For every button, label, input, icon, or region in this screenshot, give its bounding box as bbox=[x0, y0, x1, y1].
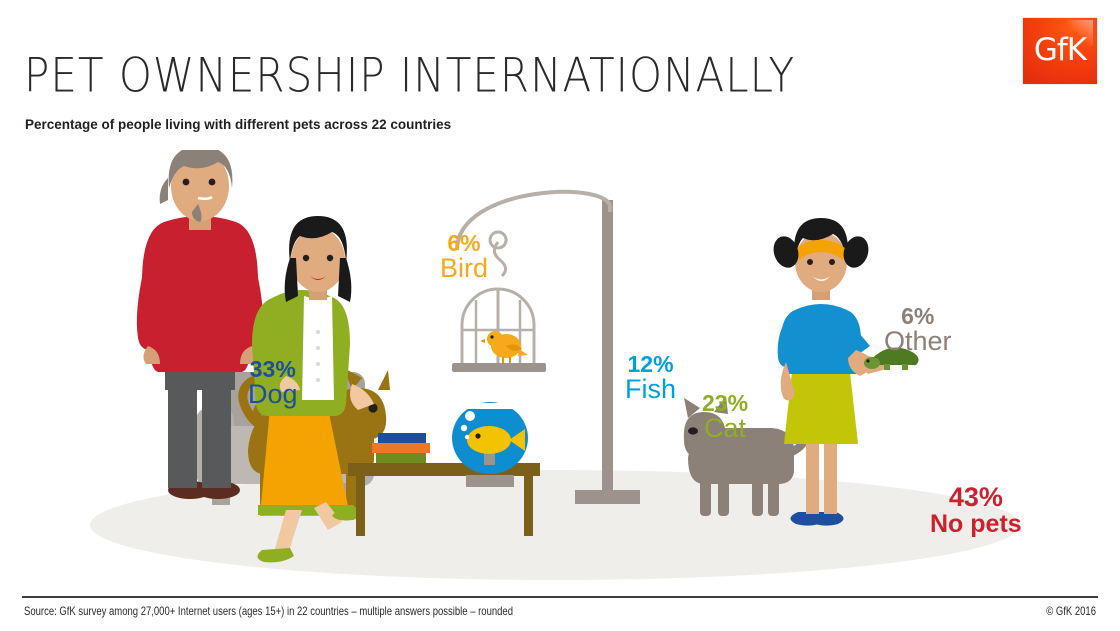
label-bird: 6% Bird bbox=[440, 232, 488, 283]
book-stack bbox=[372, 433, 430, 463]
label-no-pets-value: 43% bbox=[930, 484, 1022, 512]
label-dog-value: 33% bbox=[248, 358, 298, 381]
gfk-logo: GfK bbox=[1023, 18, 1097, 84]
label-cat-value: 23% bbox=[702, 392, 748, 415]
source-note: Source: GfK survey among 27,000+ Interne… bbox=[24, 605, 513, 619]
label-fish-name: Fish bbox=[625, 376, 676, 404]
label-cat-name: Cat bbox=[702, 415, 748, 443]
label-dog-name: Dog bbox=[248, 381, 298, 409]
footer-divider bbox=[22, 596, 1098, 598]
gfk-logo-text: GfK bbox=[1023, 18, 1097, 84]
label-dog: 33% Dog bbox=[248, 358, 298, 409]
page-title: PET OWNERSHIP INTERNATIONALLY bbox=[24, 48, 795, 103]
label-bird-name: Bird bbox=[440, 255, 488, 283]
page-subtitle: Percentage of people living with differe… bbox=[25, 117, 451, 132]
label-bird-value: 6% bbox=[440, 232, 488, 255]
label-fish: 12% Fish bbox=[625, 353, 676, 404]
label-cat: 23% Cat bbox=[702, 392, 748, 443]
label-other-name: Other bbox=[884, 328, 952, 356]
label-no-pets-name: No pets bbox=[930, 512, 1022, 538]
label-fish-value: 12% bbox=[625, 353, 676, 376]
copyright-note: © GfK 2016 bbox=[1046, 605, 1096, 619]
label-other-value: 6% bbox=[884, 305, 952, 328]
slide: PET OWNERSHIP INTERNATIONALLY Percentage… bbox=[0, 0, 1120, 631]
label-other: 6% Other bbox=[884, 305, 952, 356]
label-no-pets: 43% No pets bbox=[930, 484, 1022, 537]
